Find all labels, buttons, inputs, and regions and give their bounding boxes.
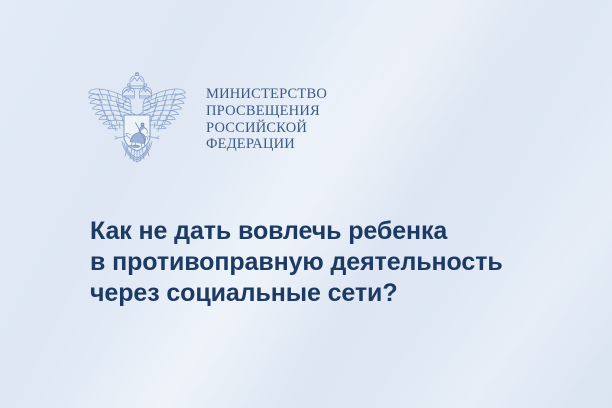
ministry-name-line-1: МИНИСТЕРСТВО	[206, 86, 327, 103]
ministry-name-line-3: РОССИЙСКОЙ	[206, 120, 327, 137]
headline-text: Как не дать вовлечь ребенка в противопра…	[90, 216, 503, 309]
headline-line-1: Как не дать вовлечь ребенка	[90, 216, 503, 247]
ministry-name-line-4: ФЕДЕРАЦИИ	[206, 136, 327, 153]
headline-line-3: через социальные сети?	[90, 278, 503, 309]
ministry-name-text: МИНИСТЕРСТВО ПРОСВЕЩЕНИЯ РОССИЙСКОЙ ФЕДЕ…	[206, 86, 327, 153]
ministry-name-line-2: ПРОСВЕЩЕНИЯ	[206, 103, 327, 120]
ministry-logo-lockup: МИНИСТЕРСТВО ПРОСВЕЩЕНИЯ РОССИЙСКОЙ ФЕДЕ…	[84, 72, 327, 168]
social-info-card: МИНИСТЕРСТВО ПРОСВЕЩЕНИЯ РОССИЙСКОЙ ФЕДЕ…	[0, 0, 612, 408]
double-headed-eagle-icon	[84, 72, 190, 168]
headline-line-2: в противоправную деятельность	[90, 247, 503, 278]
background-sheen-overlay-secondary	[0, 0, 612, 408]
background-sheen-overlay	[0, 0, 612, 408]
